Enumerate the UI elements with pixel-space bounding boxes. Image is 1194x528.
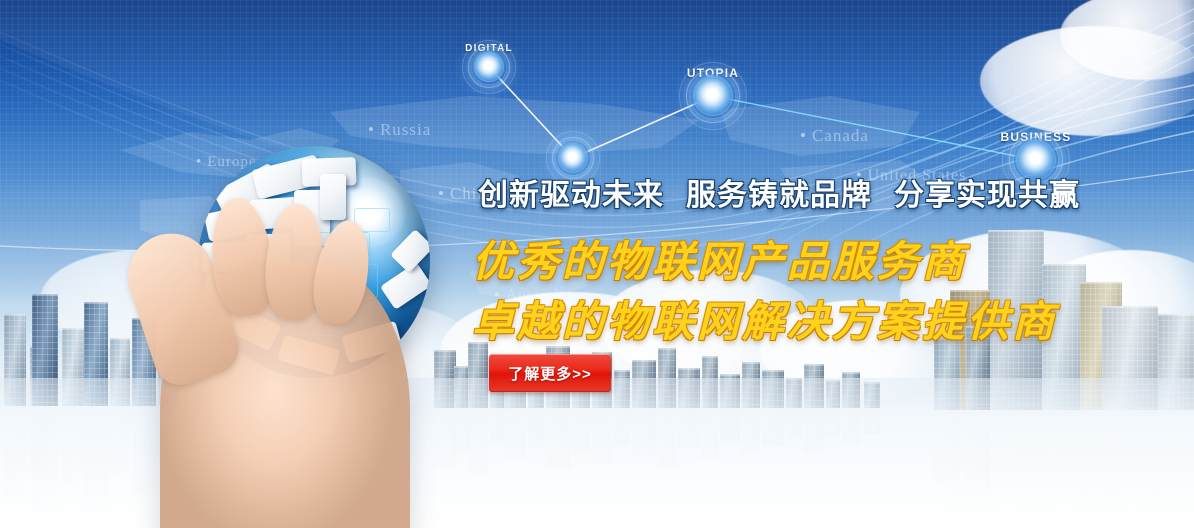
headline-part-1: 创新驱动未来 xyxy=(478,179,664,212)
hero-banner: Europe Russia China Canada United States… xyxy=(0,0,1194,528)
page-title: 创新驱动未来服务铸就品牌分享实现共赢 xyxy=(478,170,1080,214)
headline-part-3: 分享实现共赢 xyxy=(894,179,1080,212)
node-glow-icon xyxy=(472,50,506,84)
subheadline-product-service: 优秀的物联网产品服务商 xyxy=(472,228,967,289)
learn-more-button[interactable]: 了解更多>> xyxy=(489,354,611,392)
node-glow-icon xyxy=(691,74,735,118)
map-label-russia: Russia xyxy=(368,120,431,140)
network-node-digital[interactable]: DIGITAL xyxy=(472,50,506,84)
subheadline-solution-provider: 卓越的物联网解决方案提供商 xyxy=(472,288,1057,349)
map-label-canada: Canada xyxy=(800,126,869,146)
headline-part-2: 服务铸就品牌 xyxy=(686,179,872,212)
hand-holding-globe xyxy=(120,140,460,528)
network-node-utopia[interactable]: UTOPIA xyxy=(691,74,735,118)
